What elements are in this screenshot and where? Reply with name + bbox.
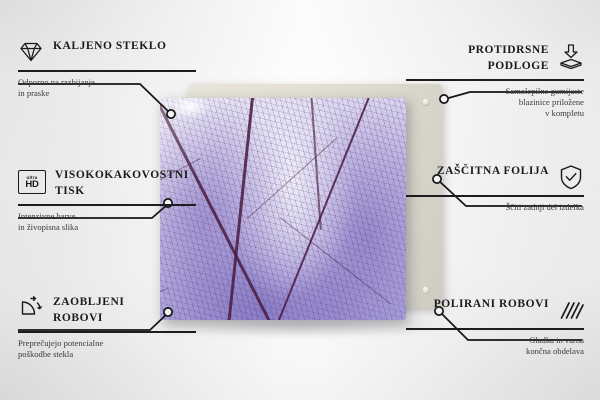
feature-visokokakovostni-tisk: ultra HD VISOKOKAKOVOSTNI TISK Intenzivn… — [18, 167, 196, 233]
product-image — [160, 84, 442, 324]
feature-subtitle: Preprečujejo potencialne poškodbe stekla — [18, 338, 196, 360]
ultra-hd-icon: ultra HD — [18, 170, 46, 194]
feature-zascitna-folija: ZAŠČITNA FOLIJA Ščiti zadnji del izdelka — [406, 163, 584, 213]
ultra-hd-icon-bottom-label: HD — [25, 180, 38, 190]
feature-protidrsne-podloge: PROTIDRSNE PODLOGE Samolepilne gumijaste… — [406, 42, 584, 119]
feature-subtitle: Gladka in varna končna obdelava — [406, 335, 584, 357]
feature-title: ZAOBLJENI ROBOVI — [53, 294, 175, 326]
feature-title: VISOKOKAKOVOSTNI TISK — [55, 167, 177, 199]
feature-subtitle: Samolepilne gumijaste blazinice priložen… — [406, 86, 584, 119]
rounded-corner-icon — [18, 295, 44, 321]
feature-divider — [18, 204, 196, 206]
feature-divider — [406, 195, 584, 197]
feature-title: PROTIDRSNE PODLOGE — [423, 42, 549, 74]
feature-subtitle: Odporno na razbijanje in praske — [18, 77, 196, 99]
feature-title: KALJENO STEKLO — [53, 38, 166, 54]
infographic-canvas: KALJENO STEKLO Odporno na razbijanje in … — [0, 0, 600, 400]
leaf-vein-artwork — [160, 98, 406, 320]
glass-highlight — [170, 98, 210, 120]
feature-divider — [18, 331, 196, 333]
feature-subtitle: Intenzivne barve in živopisna slika — [18, 211, 196, 233]
feature-divider — [406, 79, 584, 81]
shield-check-icon — [558, 164, 584, 190]
feature-title: POLIRANI ROBOVI — [434, 296, 549, 312]
feature-divider — [18, 70, 196, 72]
feature-zaobljeni-robovi: ZAOBLJENI ROBOVI Preprečujejo potencialn… — [18, 294, 196, 360]
anti-slip-pad-icon — [558, 43, 584, 69]
feature-kaljeno-steklo: KALJENO STEKLO Odporno na razbijanje in … — [18, 38, 196, 99]
feature-subtitle: Ščiti zadnji del izdelka — [406, 202, 584, 213]
polish-lines-icon — [558, 297, 584, 323]
feature-divider — [406, 328, 584, 330]
feature-title: ZAŠČITNA FOLIJA — [437, 163, 549, 179]
mount-screw-bottom-right — [422, 286, 430, 294]
feature-polirani-robovi: POLIRANI ROBOVI Gladka in varna končna o… — [406, 296, 584, 357]
diamond-icon — [18, 39, 44, 65]
tempered-glass-panel — [160, 98, 406, 320]
